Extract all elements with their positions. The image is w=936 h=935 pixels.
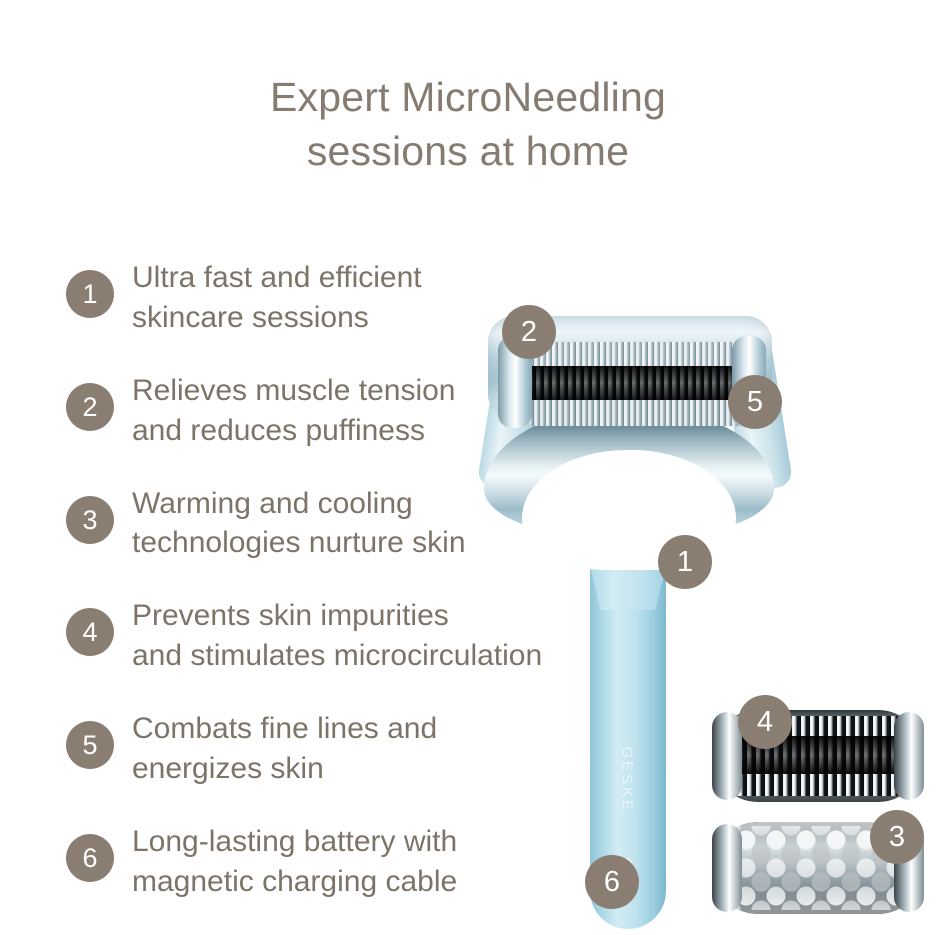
feature-line: energizes skin bbox=[132, 749, 437, 789]
callout-badge-3: 3 bbox=[870, 810, 924, 864]
feature-text-6: Long-lasting battery with magnetic charg… bbox=[132, 822, 457, 902]
feature-text-3: Warming and cooling technologies nurture… bbox=[132, 484, 466, 564]
list-item: 3 Warming and cooling technologies nurtu… bbox=[66, 484, 626, 564]
feature-text-4: Prevents skin impurities and stimulates … bbox=[132, 596, 542, 676]
feature-line: Ultra fast and efficient bbox=[132, 258, 422, 298]
feature-badge-2: 2 bbox=[66, 383, 114, 431]
list-item: 4 Prevents skin impurities and stimulate… bbox=[66, 596, 626, 676]
list-item: 2 Relieves muscle tension and reduces pu… bbox=[66, 371, 626, 451]
feature-badge-4: 4 bbox=[66, 608, 114, 656]
feature-line: Relieves muscle tension bbox=[132, 371, 455, 411]
feature-line: and reduces puffiness bbox=[132, 411, 455, 451]
feature-badge-3: 3 bbox=[66, 496, 114, 544]
feature-line: Long-lasting battery with bbox=[132, 822, 457, 862]
callout-badge-4: 4 bbox=[738, 695, 792, 749]
feature-line: and stimulates microcirculation bbox=[132, 636, 542, 676]
list-item: 6 Long-lasting battery with magnetic cha… bbox=[66, 822, 626, 902]
page-title-line-1: Expert MicroNeedling bbox=[0, 70, 936, 124]
feature-text-5: Combats fine lines and energizes skin bbox=[132, 709, 437, 789]
page-title-line-2: sessions at home bbox=[0, 124, 936, 178]
callout-badge-1: 1 bbox=[658, 535, 712, 589]
feature-line: skincare sessions bbox=[132, 298, 422, 338]
feature-line: Combats fine lines and bbox=[132, 709, 437, 749]
feature-badge-6: 6 bbox=[66, 834, 114, 882]
feature-line: Warming and cooling bbox=[132, 484, 466, 524]
feature-line: technologies nurture skin bbox=[132, 523, 466, 563]
accessory-cap-left bbox=[712, 824, 742, 912]
feature-list: 1 Ultra fast and efficient skincare sess… bbox=[66, 258, 626, 935]
page-title: Expert MicroNeedling sessions at home bbox=[0, 70, 936, 178]
feature-line: magnetic charging cable bbox=[132, 862, 457, 902]
accessory-cap-right bbox=[894, 712, 924, 800]
feature-badge-1: 1 bbox=[66, 270, 114, 318]
callout-badge-5: 5 bbox=[728, 375, 782, 429]
callout-badge-2: 2 bbox=[502, 305, 556, 359]
list-item: 5 Combats fine lines and energizes skin bbox=[66, 709, 626, 789]
feature-text-2: Relieves muscle tension and reduces puff… bbox=[132, 371, 455, 451]
feature-text-1: Ultra fast and efficient skincare sessio… bbox=[132, 258, 422, 338]
feature-line: Prevents skin impurities bbox=[132, 596, 542, 636]
callout-badge-6: 6 bbox=[585, 855, 639, 909]
feature-badge-5: 5 bbox=[66, 721, 114, 769]
